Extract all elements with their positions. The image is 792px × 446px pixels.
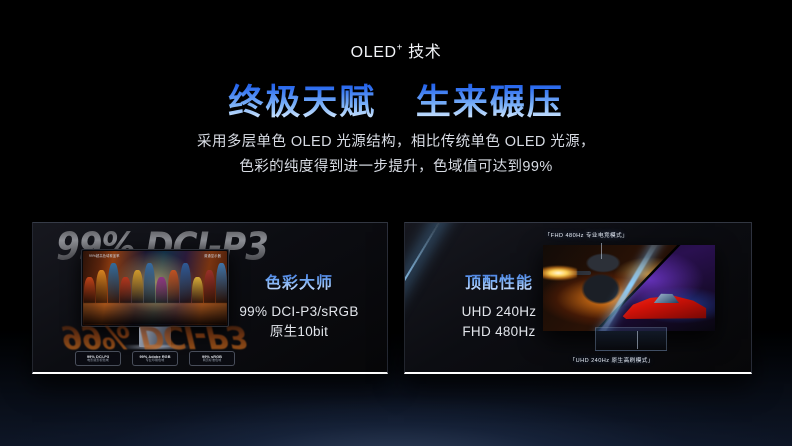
stained-glass-pane <box>168 270 179 303</box>
stained-glass-art <box>83 263 227 303</box>
page-title: 终极天赋 生来碾压 <box>0 74 792 125</box>
soldier-figure <box>573 253 631 315</box>
stained-glass-pane <box>96 270 107 303</box>
card-right-copy: 顶配性能 UHD 240Hz FHD 480Hz <box>431 269 567 342</box>
feature-card-color-master[interactable]: 99% DCI-P3 99%超高色域覆盖率 普通显示器 99% DCI-P3 9… <box>32 222 388 374</box>
stained-glass-pane <box>84 277 95 303</box>
card-left-spec-2: 原生10bit <box>225 322 373 342</box>
gamut-badge-sub: 专业印刷色域 <box>146 359 165 362</box>
stained-glass-pane <box>108 263 119 303</box>
subcopy-block: 采用多层单色 OLED 光源结构，相比传统单色 OLED 光源， 色彩的纯度得到… <box>0 130 792 180</box>
race-car <box>621 287 707 321</box>
gamut-badge: 99% DCI-P3 电影级影视色域 <box>75 351 121 366</box>
card-left-spec-1: 99% DCI-P3/sRGB <box>225 302 373 322</box>
card-left-inner: 99% DCI-P3 99%超高色域覆盖率 普通显示器 99% DCI-P3 9… <box>33 223 387 372</box>
stained-glass-pane <box>120 277 131 303</box>
card-right-spec-2: FHD 480Hz <box>431 322 567 342</box>
card-left-heading: 色彩大师 <box>225 269 373 293</box>
slide-stage: OLED+ 技术 终极天赋 生来碾压 采用多层单色 OLED 光源结构，相比传统… <box>0 0 792 446</box>
headline-part-2: 生来碾压 <box>416 83 564 122</box>
stained-glass-pane <box>192 277 203 303</box>
label-tick-top <box>601 243 602 259</box>
gaming-monitor-illustration <box>543 245 715 331</box>
gamut-badge-row: 99% DCI-P3 电影级影视色域 99% Adobe RGB 专业印刷色域 … <box>75 351 235 366</box>
subcopy-line-1: 采用多层单色 OLED 光源结构，相比传统单色 OLED 光源， <box>0 130 792 155</box>
gamut-badge-sub: 电影级影视色域 <box>87 359 109 362</box>
card-right-heading: 顶配性能 <box>431 269 567 293</box>
monitor-base-plate <box>595 327 667 351</box>
mode-label-uhd: 「UHD 240Hz 原生高刷模式」 <box>570 356 654 364</box>
feature-card-top-performance[interactable]: 「FHD 480Hz 专业电竞模式」 「UHD 240Hz 原生高刷模式」 顶配… <box>404 222 752 374</box>
card-left-copy: 色彩大师 99% DCI-P3/sRGB 原生10bit <box>225 269 373 342</box>
stained-glass-pane <box>132 270 143 303</box>
eyebrow-tail-text: 技术 <box>403 44 441 61</box>
eyebrow-title: OLED+ 技术 <box>0 38 792 62</box>
label-tick-bottom <box>637 331 638 349</box>
screen-label-right: 普通显示器 <box>204 253 221 258</box>
stained-glass-pane <box>156 277 167 303</box>
subcopy-line-2: 色彩的纯度得到进一步提升，色域值可达到99% <box>0 155 792 180</box>
mode-label-fhd: 「FHD 480Hz 专业电竞模式」 <box>545 231 629 239</box>
monitor-illustration: 99%超高色域覆盖率 普通显示器 <box>81 249 229 327</box>
screen-compare-labels: 99%超高色域覆盖率 普通显示器 <box>83 253 227 258</box>
headline-part-1: 终极天赋 <box>228 83 376 122</box>
card-right-inner: 「FHD 480Hz 专业电竞模式」 「UHD 240Hz 原生高刷模式」 顶配… <box>405 223 751 372</box>
gamut-badge: 99% sRGB 网页标准色域 <box>189 351 235 366</box>
stained-glass-pane <box>144 263 155 303</box>
eyebrow-main-text: OLED <box>351 44 397 61</box>
gamut-badge-sub: 网页标准色域 <box>203 359 222 362</box>
monitor-screen: 99%超高色域覆盖率 普通显示器 <box>83 251 227 325</box>
card-right-spec-1: UHD 240Hz <box>431 302 567 322</box>
screen-label-left: 99%超高色域覆盖率 <box>89 253 120 258</box>
stained-glass-pane <box>180 263 191 303</box>
stained-glass-pane <box>204 270 215 303</box>
gamut-badge: 99% Adobe RGB 专业印刷色域 <box>132 351 178 366</box>
